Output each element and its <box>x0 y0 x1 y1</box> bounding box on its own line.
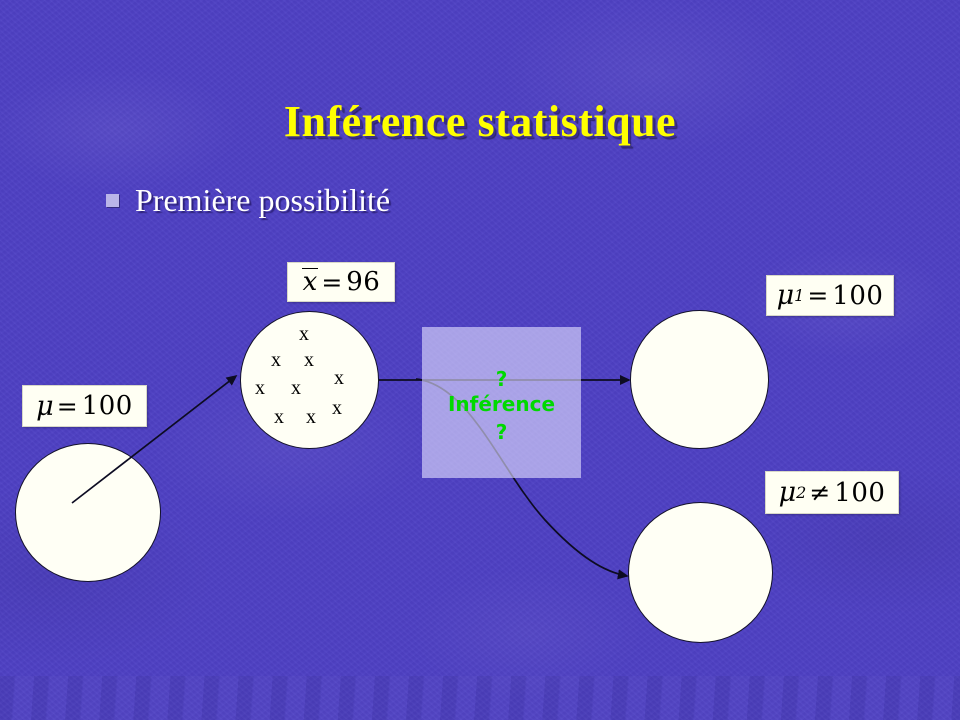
square-bullet-icon <box>106 194 119 207</box>
inference-panel: ? Inférence ? <box>422 327 581 478</box>
mu-symbol: μ <box>777 280 795 311</box>
equals-operator: = <box>57 392 78 421</box>
sample-observation-x: x <box>304 350 314 370</box>
sample-circle: x x x x x x x x x <box>240 311 379 449</box>
hypothesis-1-value: 100 <box>832 281 883 311</box>
sample-observation-x: x <box>334 368 344 388</box>
hypothesis-1-box: μ1 = 100 <box>766 275 894 316</box>
mu-subscript: 1 <box>794 286 804 305</box>
population-mean-box: μ = 100 <box>22 385 147 427</box>
hypothesis-2-circle <box>628 502 773 643</box>
bullet-item: Première possibilité <box>106 182 390 219</box>
not-equals-operator: ≠ <box>809 478 830 507</box>
sample-observation-x: x <box>274 407 284 427</box>
sample-observation-x: x <box>306 407 316 427</box>
hypothesis-1-circle <box>630 310 769 449</box>
population-circle <box>15 443 161 582</box>
mu-symbol: μ <box>779 477 797 508</box>
sample-mean-value: 96 <box>346 267 380 297</box>
page-title: Inférence statistique <box>0 96 960 147</box>
population-mean-value: 100 <box>82 391 133 421</box>
mu-symbol: μ <box>36 391 54 422</box>
background-bottom-band <box>0 676 960 720</box>
hypothesis-2-value: 100 <box>834 478 885 508</box>
sample-observation-x: x <box>299 324 309 344</box>
inference-question-bottom: ? <box>422 422 581 442</box>
equals-operator: = <box>321 268 342 297</box>
slide-canvas: Inférence statistique Première possibili… <box>0 0 960 720</box>
sample-observation-x: x <box>332 398 342 418</box>
sample-mean-box: x = 96 <box>287 262 395 302</box>
mu-subscript: 2 <box>796 483 806 502</box>
sample-observation-x: x <box>291 378 301 398</box>
hypothesis-2-box: μ2 ≠ 100 <box>765 471 899 514</box>
sample-observation-x: x <box>255 378 265 398</box>
bullet-item-label: Première possibilité <box>135 182 390 219</box>
inference-question-top: ? <box>422 369 581 389</box>
inference-label: Inférence <box>422 394 581 414</box>
x-bar-symbol: x <box>302 268 319 296</box>
sample-observation-x: x <box>271 350 281 370</box>
equals-operator: = <box>807 281 828 310</box>
